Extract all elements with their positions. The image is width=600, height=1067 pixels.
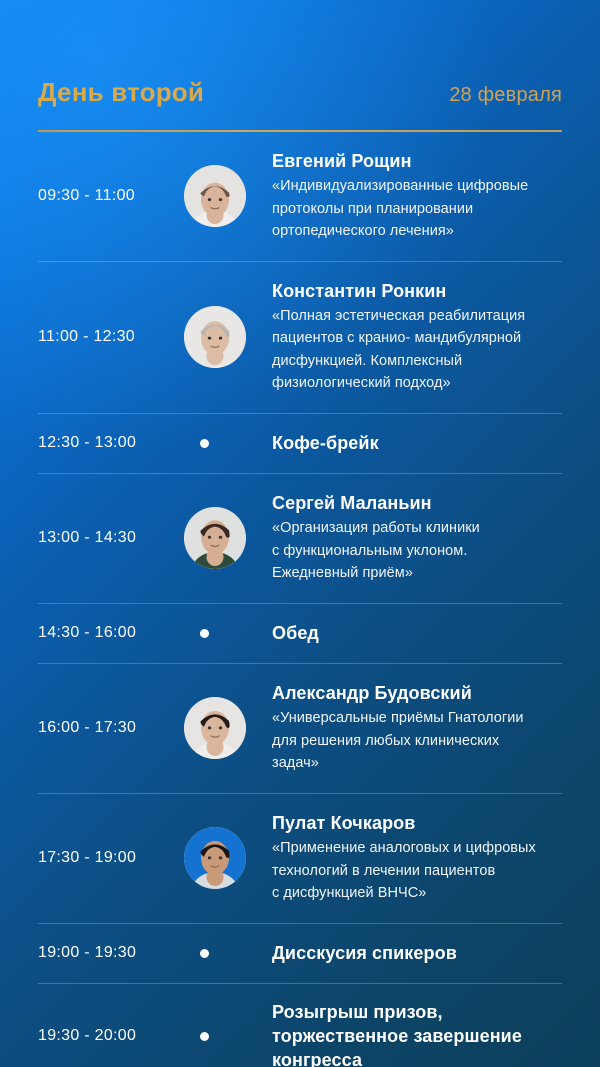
- session-text: Сергей Маланьин«Организация работы клини…: [262, 492, 562, 585]
- bullet-dot-icon: [200, 949, 209, 958]
- avatar: [184, 306, 246, 368]
- session-media: [184, 165, 262, 227]
- session-text: Евгений Рощин«Индивидуализированные цифр…: [262, 150, 562, 243]
- session-text: Александр Будовский«Универсальные приёмы…: [262, 682, 562, 775]
- schedule-row-break: 19:30 - 20:00Розыгрыш призов, торжествен…: [38, 984, 562, 1067]
- talk-title: «Полная эстетическая реабилитация пациен…: [272, 305, 562, 395]
- avatar: [184, 827, 246, 889]
- session-text: Кофе-брейк: [262, 431, 562, 455]
- session-media: [184, 439, 262, 448]
- page-title: День второй: [38, 78, 204, 107]
- header: День второй 28 февраля: [38, 0, 562, 107]
- talk-title: «Индивидуализированные цифровые протокол…: [272, 175, 562, 242]
- session-media: [184, 949, 262, 958]
- avatar: [184, 507, 246, 569]
- schedule-row-session: 16:00 - 17:30 Александр Будовский«Универ…: [38, 664, 562, 794]
- talk-title: «Применение аналоговых и цифровых технол…: [272, 837, 562, 904]
- schedule-row-break: 14:30 - 16:00Обед: [38, 604, 562, 664]
- schedule-row-break: 12:30 - 13:00Кофе-брейк: [38, 414, 562, 474]
- talk-title: «Универсальные приёмы Гнатологии для реш…: [272, 707, 562, 774]
- bullet-dot-icon: [200, 1032, 209, 1041]
- speaker-name: Сергей Маланьин: [272, 492, 562, 515]
- schedule-row-session: 11:00 - 12:30 Константин Ронкин«Полная э…: [38, 262, 562, 414]
- session-time: 19:30 - 20:00: [38, 1027, 184, 1045]
- session-time: 14:30 - 16:00: [38, 624, 184, 642]
- session-time: 19:00 - 19:30: [38, 944, 184, 962]
- speaker-name: Пулат Кочкаров: [272, 812, 562, 835]
- session-media: [184, 697, 262, 759]
- header-date: 28 февраля: [449, 84, 562, 106]
- session-time: 13:00 - 14:30: [38, 529, 184, 547]
- session-time: 16:00 - 17:30: [38, 719, 184, 737]
- break-label: Обед: [272, 621, 562, 645]
- session-text: Константин Ронкин«Полная эстетическая ре…: [262, 280, 562, 395]
- schedule-list: 09:30 - 11:00 Евгений Рощин«Индивидуализ…: [38, 132, 562, 1067]
- session-media: [184, 306, 262, 368]
- schedule-page: День второй 28 февраля 09:30 - 11:00 Евг…: [0, 0, 600, 1067]
- session-time: 11:00 - 12:30: [38, 328, 184, 346]
- break-label: Кофе-брейк: [272, 431, 562, 455]
- session-text: Розыгрыш призов, торжественное завершени…: [262, 1000, 562, 1067]
- schedule-row-session: 17:30 - 19:00 Пулат Кочкаров«Применение …: [38, 794, 562, 924]
- session-media: [184, 827, 262, 889]
- session-text: Обед: [262, 621, 562, 645]
- session-media: [184, 507, 262, 569]
- session-media: [184, 1032, 262, 1041]
- avatar: [184, 165, 246, 227]
- avatar: [184, 697, 246, 759]
- session-media: [184, 629, 262, 638]
- bullet-dot-icon: [200, 439, 209, 448]
- schedule-row-break: 19:00 - 19:30Дисскусия спикеров: [38, 924, 562, 984]
- session-time: 17:30 - 19:00: [38, 849, 184, 867]
- break-label: Розыгрыш призов, торжественное завершени…: [272, 1000, 562, 1067]
- speaker-name: Евгений Рощин: [272, 150, 562, 173]
- speaker-name: Константин Ронкин: [272, 280, 562, 303]
- schedule-row-session: 09:30 - 11:00 Евгений Рощин«Индивидуализ…: [38, 132, 562, 262]
- talk-title: «Организация работы клиники с функционал…: [272, 517, 562, 584]
- speaker-name: Александр Будовский: [272, 682, 562, 705]
- session-text: Дисскусия спикеров: [262, 941, 562, 965]
- session-text: Пулат Кочкаров«Применение аналоговых и ц…: [262, 812, 562, 905]
- bullet-dot-icon: [200, 629, 209, 638]
- break-label: Дисскусия спикеров: [272, 941, 562, 965]
- schedule-row-session: 13:00 - 14:30 Сергей Маланьин«Организаци…: [38, 474, 562, 604]
- session-time: 12:30 - 13:00: [38, 434, 184, 452]
- page-content: День второй 28 февраля 09:30 - 11:00 Евг…: [0, 0, 600, 1067]
- session-time: 09:30 - 11:00: [38, 187, 184, 205]
